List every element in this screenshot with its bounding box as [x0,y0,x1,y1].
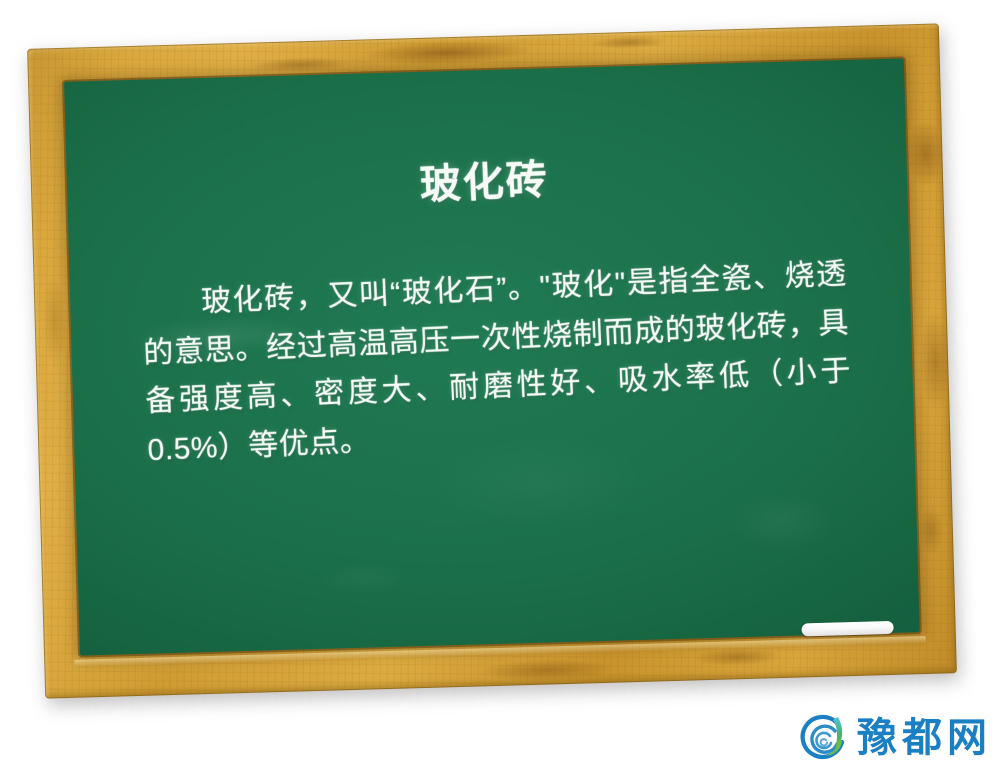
blackboard: 玻化砖 玻化砖，又叫“玻化石”。"玻化"是指全瓷、烧透的意思。经过高温高压一次性… [27,23,957,698]
chalkboard-surface: 玻化砖 玻化砖，又叫“玻化石”。"玻化"是指全瓷、烧透的意思。经过高温高压一次性… [64,58,920,655]
chalk-stick-icon [801,621,893,637]
chalk-text-block: 玻化砖 玻化砖，又叫“玻化石”。"玻化"是指全瓷、烧透的意思。经过高温高压一次性… [64,58,920,655]
watermark-site-name: 豫都网 [857,718,992,758]
page-root: 玻化砖 玻化砖，又叫“玻化石”。"玻化"是指全瓷、烧透的意思。经过高温高压一次性… [0,0,1000,771]
page-title: 玻化砖 [64,140,905,226]
watermark: 豫都网 [797,711,992,765]
spiral-swirl-logo-icon [797,711,851,765]
body-paragraph: 玻化砖，又叫“玻化石”。"玻化"是指全瓷、烧透的意思。经过高温高压一次性烧制而成… [140,250,854,475]
